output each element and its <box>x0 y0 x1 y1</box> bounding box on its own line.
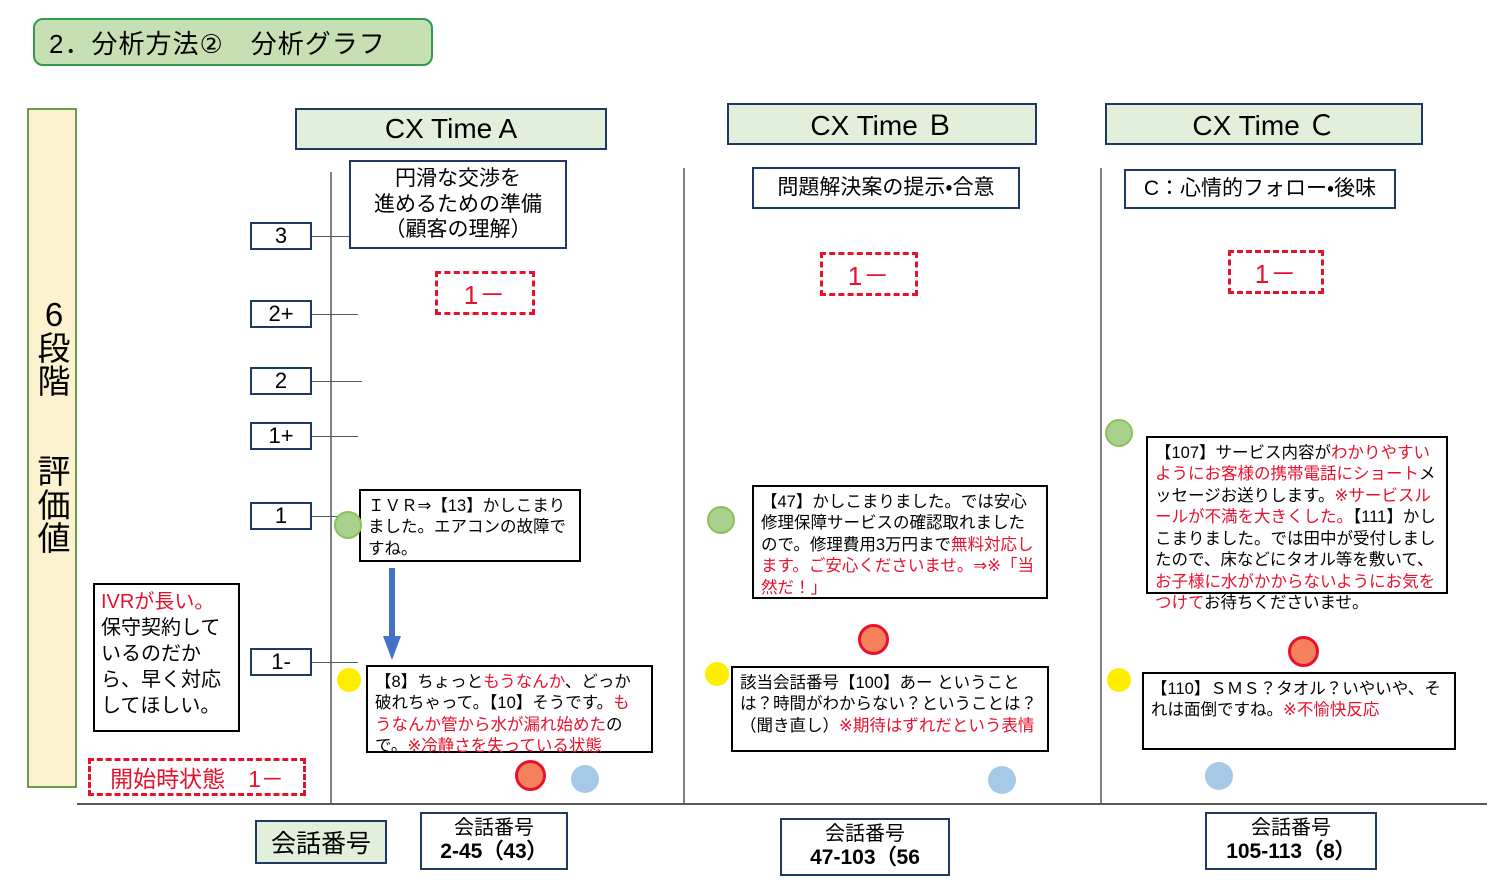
ivr-comment-text: 保守契約しているのだから、早く対応してほしい。 <box>101 617 221 717</box>
text-run: お待ちくださいませ。 <box>1204 594 1369 612</box>
text-run: 該当会話番号【100】 <box>740 674 900 692</box>
column-header-b[interactable]: CX Time Ｂ <box>727 103 1037 145</box>
axis-line-column-b <box>683 168 685 804</box>
y-axis-tick-label: 1- <box>271 649 291 675</box>
y-axis-tick-1: 1 <box>250 502 312 530</box>
ivr-comment-highlight: IVRが長い。 <box>101 591 214 613</box>
text-run: 【8】ちょっと <box>375 673 483 691</box>
page-title-text: 2．分析方法② 分析グラフ <box>49 24 386 61</box>
score-tag-b-value: 1－ <box>848 256 890 293</box>
axis-line-column-c <box>1100 168 1102 804</box>
y-axis-tick-line <box>312 436 358 437</box>
y-axis-tick-2+: 2+ <box>250 300 312 328</box>
marker-blue-a <box>571 765 599 793</box>
y-axis-tick-1+: 1+ <box>250 422 312 450</box>
phase-description-a-text: 円滑な交渉を進めるための準備（顧客の理解） <box>374 166 542 243</box>
y-axis-tick-3: 3 <box>250 222 312 250</box>
score-tag-b: 1－ <box>820 252 918 296</box>
conversation-number-a-value: 2-45（43） <box>440 840 547 865</box>
start-state-label: 開始時状態 1－ <box>110 760 284 794</box>
conversation-box-a-lower: 【8】ちょっともうなんか、どっか破れちゃって。【10】そうです。もうなんか管から… <box>366 665 653 753</box>
marker-yellow-a <box>337 668 361 692</box>
y-axis-label-bottom: 評価値 <box>29 455 79 556</box>
phase-description-c-text: C：心情的フォロー・後味 <box>1144 176 1376 202</box>
phase-description-b: 問題解決案の提示・合意 <box>752 167 1020 209</box>
down-arrow-icon <box>382 568 402 660</box>
text-run: 【47】 <box>761 493 812 511</box>
column-header-a-label: CX Time A <box>385 113 517 145</box>
conversation-number-c-value: 105-113（8） <box>1226 840 1356 865</box>
marker-red-b <box>858 624 889 655</box>
axis-line-column-a <box>330 172 332 804</box>
text-run: もうなんか <box>483 673 565 691</box>
y-axis-tick-label: 1 <box>275 503 287 529</box>
chart-baseline <box>77 803 1487 805</box>
text-run: ＩＶＲ⇒【13】 <box>368 497 483 515</box>
y-axis-tick-line <box>312 314 358 315</box>
y-axis-tick-label: 3 <box>275 223 287 249</box>
column-header-a[interactable]: CX Time A <box>295 108 607 150</box>
y-axis-tick-label: 1+ <box>268 423 293 449</box>
score-tag-a: 1－ <box>435 271 535 315</box>
marker-green-c <box>1105 419 1133 447</box>
y-axis-tick-1-: 1- <box>250 648 312 676</box>
legend-conversation-number: 会話番号 <box>255 820 387 864</box>
score-tag-c: 1－ <box>1228 250 1324 294</box>
conversation-number-a-caption: 会話番号 <box>454 817 534 841</box>
column-header-b-label: CX Time Ｂ <box>810 104 953 144</box>
conversation-box-c-lower: 【110】ＳＭＳ？タオル？いやいや、それは面倒ですね。※不愉快反応 <box>1142 672 1456 750</box>
text-run: ※不愉快反応 <box>1283 701 1379 719</box>
marker-yellow-c <box>1107 668 1131 692</box>
conversation-box-c-upper: 【107】サービス内容がわかりやすいようにお客様の携帯電話にショートメッセージお… <box>1146 436 1448 594</box>
text-run: 【107】サービス内容が <box>1155 444 1331 462</box>
marker-red-c <box>1288 636 1319 667</box>
conversation-number-box-a: 会話番号 2-45（43） <box>420 812 568 870</box>
y-axis-label-top: 6段階 <box>29 298 79 399</box>
marker-yellow-b <box>705 662 729 686</box>
score-tag-a-value: 1－ <box>464 275 506 312</box>
conversation-number-box-c: 会話番号 105-113（8） <box>1205 812 1377 870</box>
phase-description-c: C：心情的フォロー・後味 <box>1124 169 1396 209</box>
conversation-box-b-lower: 該当会話番号【100】あー ということは？時間がわからない？ということは？ （聞… <box>731 666 1049 752</box>
page-title: 2．分析方法② 分析グラフ <box>33 18 433 66</box>
score-tag-c-value: 1－ <box>1255 254 1297 291</box>
y-axis-title-band: 6段階 評価値 <box>27 108 77 788</box>
marker-green-a <box>334 511 362 539</box>
marker-green-b <box>707 506 735 534</box>
legend-conversation-number-label: 会話番号 <box>271 824 371 860</box>
conversation-number-b-value: 47-103（56 <box>810 846 920 871</box>
y-axis-tick-line <box>312 662 358 663</box>
marker-red-a <box>515 760 546 791</box>
y-axis-tick-line <box>312 381 362 382</box>
phase-description-a: 円滑な交渉を進めるための準備（顧客の理解） <box>349 160 567 249</box>
conversation-number-box-b: 会話番号 47-103（56 <box>780 818 950 876</box>
column-header-c[interactable]: CX Time Ｃ <box>1105 103 1423 145</box>
ivr-comment-box: IVRが長い。保守契約しているのだから、早く対応してほしい。 <box>93 583 240 732</box>
conversation-box-a-upper: ＩＶＲ⇒【13】かしこまりました。エアコンの故障ですね。 <box>359 489 581 562</box>
marker-blue-b <box>988 766 1016 794</box>
y-axis-tick-2: 2 <box>250 367 312 395</box>
marker-blue-c <box>1205 762 1233 790</box>
text-run: ※冷静さを失っている状態 <box>407 737 602 755</box>
text-run: ※期待はずれだという表情 <box>839 717 1034 735</box>
conversation-number-b-caption: 会話番号 <box>825 823 905 847</box>
y-axis-tick-label: 2+ <box>268 301 293 327</box>
phase-description-b-text: 問題解決案の提示・合意 <box>777 175 994 201</box>
conversation-box-b-upper: 【47】かしこまりました。では安心修理保障サービスの確認取れましたので。修理費用… <box>752 485 1048 599</box>
start-state-tag: 開始時状態 1－ <box>88 758 306 796</box>
conversation-number-c-caption: 会話番号 <box>1251 817 1331 841</box>
y-axis-tick-label: 2 <box>275 368 287 394</box>
column-header-c-label: CX Time Ｃ <box>1192 104 1335 144</box>
